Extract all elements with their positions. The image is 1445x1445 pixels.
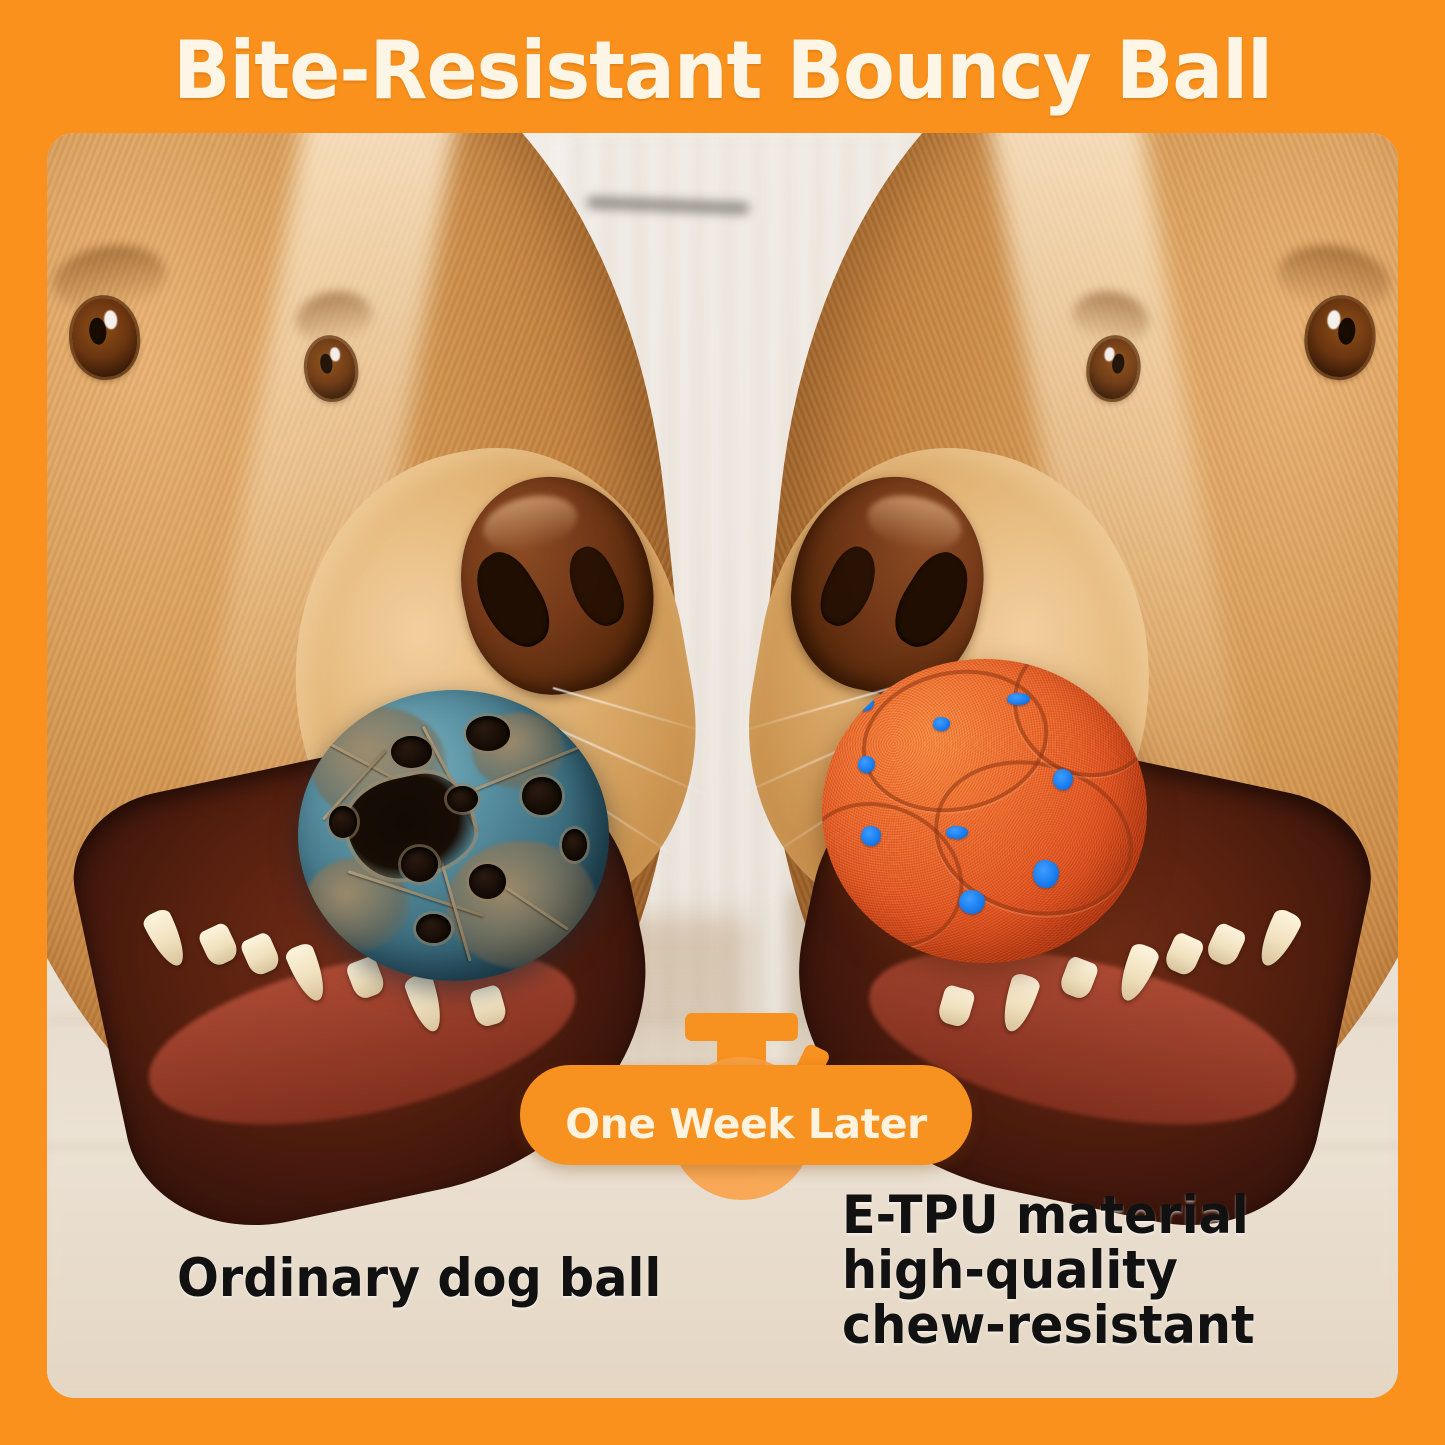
chew-hole bbox=[391, 736, 431, 768]
tooth bbox=[197, 922, 241, 969]
caption-etpu-ball: E-TPU material high-quality chew-resista… bbox=[842, 1188, 1255, 1353]
caption-line-1: E-TPU material bbox=[842, 1188, 1255, 1243]
chew-hole bbox=[466, 716, 510, 751]
nostril bbox=[461, 543, 562, 658]
chew-hole bbox=[522, 777, 562, 815]
blue-speck bbox=[861, 826, 880, 845]
chew-hole bbox=[401, 847, 438, 882]
caption-ordinary-ball: Ordinary dog ball bbox=[177, 1251, 661, 1306]
tooth bbox=[1164, 931, 1207, 978]
nostril bbox=[811, 540, 888, 634]
nose-highlight bbox=[863, 488, 966, 559]
ordinary-dog-ball bbox=[298, 690, 609, 981]
blue-speck bbox=[959, 890, 985, 914]
blue-speck bbox=[858, 756, 875, 772]
nose-highlight bbox=[478, 488, 581, 559]
tooth bbox=[1252, 907, 1304, 972]
etpu-bouncy-ball bbox=[822, 659, 1146, 963]
chew-hole bbox=[562, 829, 587, 861]
chew-hole bbox=[416, 914, 450, 943]
page-title: Bite-Resistant Bouncy Ball bbox=[43, 22, 1401, 120]
badge-label: One Week Later bbox=[565, 1104, 926, 1165]
nostril bbox=[557, 540, 634, 634]
badge-pill: One Week Later bbox=[520, 1065, 972, 1165]
blue-speck bbox=[933, 717, 951, 731]
tooth bbox=[238, 931, 281, 978]
chew-hole bbox=[447, 786, 478, 812]
caption-line-3: chew-resistant bbox=[842, 1298, 1255, 1353]
tooth bbox=[141, 907, 193, 972]
orange-frame: Bite-Resistant Bouncy Ball bbox=[0, 0, 1445, 1445]
caption-line-2: high-quality bbox=[842, 1243, 1255, 1298]
nostril bbox=[883, 543, 984, 658]
one-week-later-badge: One Week Later bbox=[520, 1010, 972, 1165]
tooth bbox=[1204, 922, 1248, 969]
comparison-photo: One Week Later Ordinary dog ball E-TPU m… bbox=[47, 133, 1398, 1398]
blue-speck bbox=[1053, 769, 1073, 791]
